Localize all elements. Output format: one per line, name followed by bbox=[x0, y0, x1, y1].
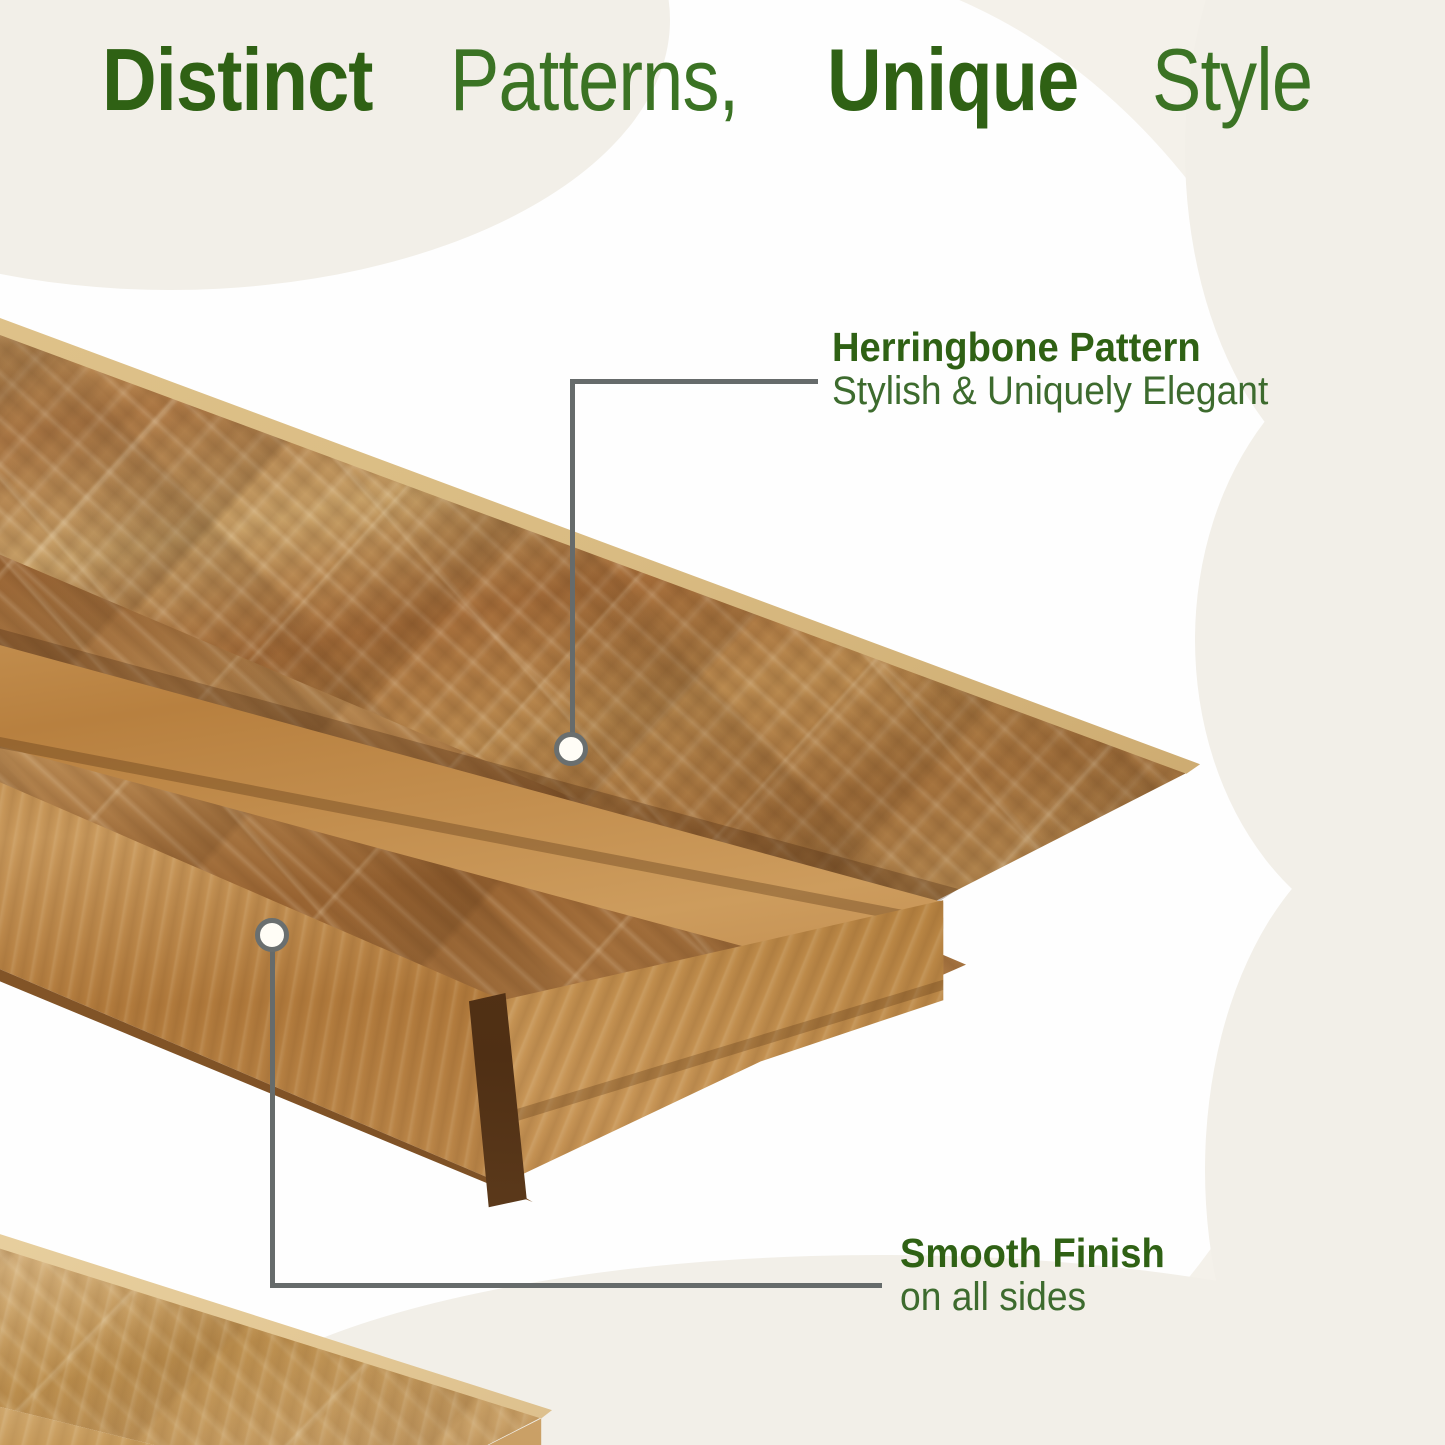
marker-dot-herringbone bbox=[554, 732, 588, 766]
headline-word-style: Style bbox=[1152, 36, 1312, 124]
page-title: Distinct Patterns, Unique Style bbox=[0, 36, 1445, 124]
leader-line-horizontal-segment bbox=[270, 1283, 882, 1288]
leader-line-vertical-segment bbox=[270, 950, 275, 1287]
callout-title: Smooth Finish bbox=[900, 1232, 1165, 1275]
leader-line-vertical-segment bbox=[570, 379, 575, 739]
product-feature-image: Distinct Patterns, Unique Style bbox=[0, 0, 1445, 1445]
headline-word-patterns: Patterns, bbox=[450, 36, 766, 124]
callout-subtitle: on all sides bbox=[900, 1275, 1165, 1320]
callout-herringbone-pattern: Herringbone Pattern Stylish & Uniquely E… bbox=[832, 326, 1301, 413]
callout-smooth-finish: Smooth Finish on all sides bbox=[900, 1232, 1185, 1319]
product-shelf-secondary bbox=[0, 1095, 660, 1445]
marker-dot-smooth-finish bbox=[255, 918, 289, 952]
headline-word-distinct: Distinct bbox=[102, 36, 401, 124]
callout-title: Herringbone Pattern bbox=[832, 326, 1268, 369]
leader-line-horizontal-segment bbox=[570, 379, 818, 384]
callout-subtitle: Stylish & Uniquely Elegant bbox=[832, 369, 1268, 414]
headline-word-unique: Unique bbox=[827, 36, 1107, 124]
